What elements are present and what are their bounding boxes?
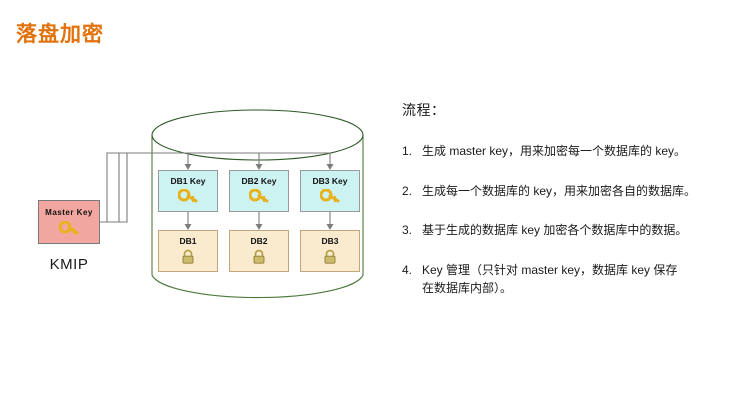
flow-item-1-number: 1.: [402, 142, 422, 161]
db2-key-label: DB2 Key: [242, 177, 277, 186]
flow-item-4-text: Key 管理（只针对 master key，数据库 key 保存 在数据库内部）…: [422, 261, 722, 298]
db1-key-label: DB1 Key: [171, 177, 206, 186]
key-icon: [249, 189, 269, 207]
flow-item-2-text: 生成每一个数据库的 key，用来加密各自的数据库。: [422, 182, 722, 201]
db1-label: DB1: [179, 237, 196, 246]
db2-key-node[interactable]: DB2 Key: [229, 170, 289, 212]
db1-key-node[interactable]: DB1 Key: [158, 170, 218, 212]
master-key-node[interactable]: Master Key: [38, 200, 100, 244]
db2-node[interactable]: DB2: [229, 230, 289, 272]
db3-key-label: DB3 Key: [313, 177, 348, 186]
lock-icon: [251, 249, 267, 269]
encryption-diagram: Master Key KMIP DB1 Key DB2 Key: [0, 0, 400, 418]
flow-item-2: 2. 生成每一个数据库的 key，用来加密各自的数据库。: [402, 182, 722, 201]
flow-panel: 流程： 1. 生成 master key，用来加密每一个数据库的 key。 2.…: [402, 100, 722, 319]
key-icon: [178, 189, 198, 207]
flow-item-1-text: 生成 master key，用来加密每一个数据库的 key。: [422, 142, 722, 161]
key-icon: [320, 189, 340, 207]
db3-key-node[interactable]: DB3 Key: [300, 170, 360, 212]
flow-item-3-text: 基于生成的数据库 key 加密各个数据库中的数据。: [422, 221, 722, 240]
flow-item-3-number: 3.: [402, 221, 422, 240]
master-key-label: Master Key: [45, 209, 93, 218]
db2-label: DB2: [250, 237, 267, 246]
flow-item-4-line2: 在数据库内部）。: [422, 279, 722, 298]
flow-item-4: 4. Key 管理（只针对 master key，数据库 key 保存 在数据库…: [402, 261, 722, 298]
lock-icon: [322, 249, 338, 269]
lock-icon: [180, 249, 196, 269]
flow-item-3: 3. 基于生成的数据库 key 加密各个数据库中的数据。: [402, 221, 722, 240]
flow-heading: 流程：: [402, 100, 722, 120]
key-icon: [59, 221, 79, 239]
flow-item-2-number: 2.: [402, 182, 422, 201]
flow-item-1: 1. 生成 master key，用来加密每一个数据库的 key。: [402, 142, 722, 161]
db1-node[interactable]: DB1: [158, 230, 218, 272]
flow-item-4-line1: Key 管理（只针对 master key，数据库 key 保存: [422, 263, 677, 277]
db3-node[interactable]: DB3: [300, 230, 360, 272]
flow-item-4-number: 4.: [402, 261, 422, 280]
key-to-db-arrows: [188, 212, 330, 226]
kmip-caption: KMIP: [38, 256, 100, 273]
db3-label: DB3: [321, 237, 338, 246]
